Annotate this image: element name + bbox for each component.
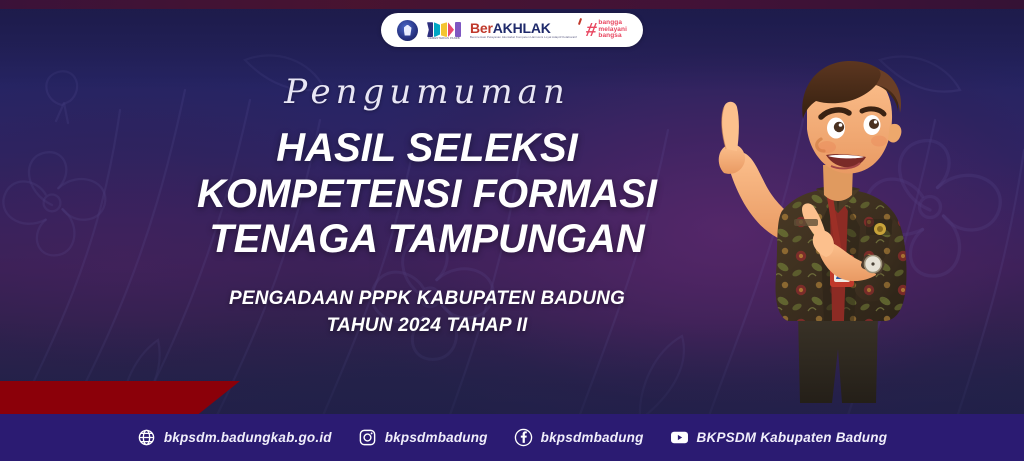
facebook-icon xyxy=(514,428,533,447)
kicker-pengumuman: Pengumuman xyxy=(0,72,1024,112)
headline-line-1: HASIL SELEKSI xyxy=(0,126,1024,172)
panrb-mark-icon xyxy=(427,19,461,37)
berakhlak-tick-icon xyxy=(578,17,582,24)
kabupaten-badung-emblem-icon xyxy=(397,20,418,41)
instagram-icon xyxy=(358,428,377,447)
berakhlak-prefix: Ber xyxy=(470,20,493,36)
subtitle-line-2: TAHUN 2024 TAHAP II xyxy=(0,312,1024,340)
announcement-banner: KEMENTERIAN PANRB BerAKHLAK Berorientasi… xyxy=(0,0,1024,461)
bangga-line-3: bangsa xyxy=(598,33,627,40)
subtitle-line-1: PENGADAAN PPPK KABUPATEN BADUNG xyxy=(0,285,1024,313)
footer-label-facebook: bkpsdmbadung xyxy=(541,430,644,445)
footer-label-youtube: BKPSDM Kabupaten Badung xyxy=(697,430,888,445)
berakhlak-wordmark: BerAKHLAK xyxy=(470,21,551,35)
panrb-logo: KEMENTERIAN PANRB xyxy=(427,19,461,41)
footer-contact-bar: bkpsdm.badungkab.go.id bkpsdmbadung bkps… xyxy=(0,414,1024,461)
footer-item-website[interactable]: bkpsdm.badungkab.go.id xyxy=(137,428,332,447)
headline-line-3: TENAGA TAMPUNGAN xyxy=(0,217,1024,263)
headline: HASIL SELEKSI KOMPETENSI FORMASI TENAGA … xyxy=(0,126,1024,263)
footer-item-facebook[interactable]: bkpsdmbadung xyxy=(514,428,644,447)
hashtag-icon: # xyxy=(584,21,598,40)
footer-item-youtube[interactable]: BKPSDM Kabupaten Badung xyxy=(670,428,888,447)
bangga-melayani-bangsa-logo: # bangga melayani bangsa xyxy=(586,20,627,41)
headline-line-2: KOMPETENSI FORMASI xyxy=(0,172,1024,218)
logo-bar: KEMENTERIAN PANRB BerAKHLAK Berorientasi… xyxy=(381,13,643,47)
subtitle: PENGADAAN PPPK KABUPATEN BADUNG TAHUN 20… xyxy=(0,285,1024,340)
footer-label-website: bkpsdm.badungkab.go.id xyxy=(164,430,332,445)
footer-label-instagram: bkpsdmbadung xyxy=(385,430,488,445)
footer-item-instagram[interactable]: bkpsdmbadung xyxy=(358,428,488,447)
globe-icon xyxy=(137,428,156,447)
panrb-caption: KEMENTERIAN PANRB xyxy=(428,38,460,41)
berakhlak-logo: BerAKHLAK Berorientasi Pelayanan Akuntab… xyxy=(470,21,577,40)
youtube-icon xyxy=(670,428,689,447)
berakhlak-suffix: AKHLAK xyxy=(493,20,551,36)
berakhlak-tagline: Berorientasi Pelayanan Akuntabel Kompete… xyxy=(470,36,577,39)
banner-text-content: Pengumuman HASIL SELEKSI KOMPETENSI FORM… xyxy=(0,0,1024,340)
